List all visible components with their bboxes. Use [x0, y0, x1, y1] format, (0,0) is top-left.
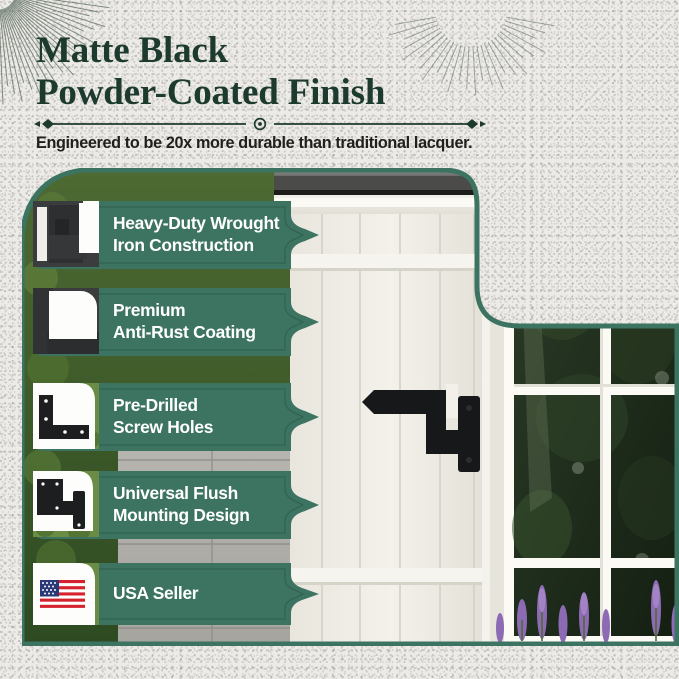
feature-thumbnail-usa-flag [33, 563, 99, 625]
feature-thumbnail-screw-holes [33, 383, 99, 449]
product-feature-graphic: Matte Black Powder-Coated Finish Enginee… [0, 0, 679, 679]
feature-thumbnail-anti-rust [33, 288, 99, 354]
usa-flag-icon [40, 580, 85, 608]
feature-label: Universal Flush Mounting Design [91, 471, 317, 539]
page-subtitle: Engineered to be 20x more durable than t… [36, 134, 472, 153]
divider-ornament [34, 117, 486, 131]
feature-label: USA Seller [91, 563, 317, 625]
feature-thumbnail-flush-mount [33, 471, 99, 537]
feature-label: Premium Anti-Rust Coating [91, 288, 317, 356]
feature-thumbnail-wrought-iron [33, 201, 99, 267]
feature-label: Heavy-Duty Wrought Iron Construction [91, 201, 317, 269]
feature-label: Pre-Drilled Screw Holes [91, 383, 317, 451]
page-title: Matte Black Powder-Coated Finish [0, 0, 560, 114]
header: Matte Black Powder-Coated Finish [0, 0, 560, 114]
